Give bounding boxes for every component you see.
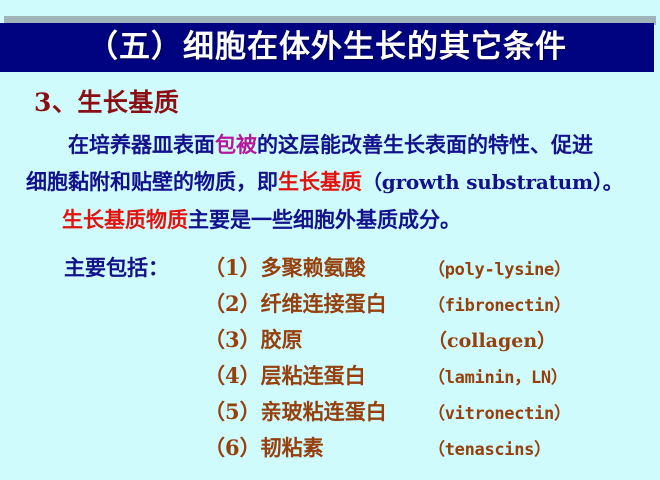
list-item-5-english: （vitronectin） [428,399,571,424]
paragraph-1-highlight-baobei: 包被 [215,132,257,157]
paragraph-3-segment-b: 主要是一些细胞外基质成分。 [188,207,461,232]
list-item-1-label: （1）多聚赖氨酸 [204,252,428,282]
list-item-2-label: （2）纤维连接蛋白 [204,288,428,318]
list-item-2-name: 纤维连接蛋白 [261,291,387,316]
list-item: （3）胶原 （collagen） [64,324,660,360]
paragraph-1-segment-a: 在培养器皿表面 [68,132,215,157]
list-item-4-number: （4） [204,363,261,388]
list-item: 主要包括： （1）多聚赖氨酸 （poly-lysine） [64,252,660,288]
list-item-3-label: （3）胶原 [204,324,428,354]
list-item-6-label: （6）韧粘素 [204,432,428,462]
list-item-6-english: （tenascins） [428,435,551,460]
paragraph-3-highlight-substrate: 生长基质物质 [62,207,188,232]
list-item-3-name: 胶原 [261,327,303,352]
body-text-block: 在培养器皿表面包被的这层能改善生长表面的特性、促进 细胞黏附和贴壁的物质，即生长… [26,126,656,238]
list-item-3-english: （collagen） [428,326,556,353]
paragraph-2-segment-a: 细胞黏附和贴壁的物质，即 [26,169,278,194]
list-item-5-number: （5） [204,399,261,424]
list-item-2-english: （fibronectin） [428,291,571,316]
paragraph-1-segment-b: 的这层能改善生长表面的特性、促进 [257,132,593,157]
paragraph-line-1: 在培养器皿表面包被的这层能改善生长表面的特性、促进 [26,126,656,163]
list-item-1-english: （poly-lysine） [428,255,571,280]
list-item-2-number: （2） [204,291,261,316]
list-item-1-name: 多聚赖氨酸 [261,255,366,280]
slide-title: （五）细胞在体外生长的其它条件 [87,32,567,63]
list-item: （4）层粘连蛋白 （laminin，LN） [64,360,660,396]
slide-canvas: （五）细胞在体外生长的其它条件 3、生长基质 在培养器皿表面包被的这层能改善生长… [0,0,660,480]
list-item: （6）韧粘素 （tenascins） [64,432,660,468]
list-item-6-name: 韧粘素 [261,435,324,460]
list-item-4-english: （laminin，LN） [428,363,568,388]
list-item-5-name: 亲玻粘连蛋白 [261,399,387,424]
list-item-4-name: 层粘连蛋白 [261,363,366,388]
section-heading: 3、生长基质 [34,83,179,119]
list-item-5-label: （5）亲玻粘连蛋白 [204,396,428,426]
list-item-3-number: （3） [204,327,261,352]
paragraph-2-latin-term: （growth substratum）。 [362,170,623,194]
list-lead-label: 主要包括： [64,252,204,282]
substrate-list: 主要包括： （1）多聚赖氨酸 （poly-lysine） （2）纤维连接蛋白 （… [64,252,660,468]
paragraph-2-highlight-shengzhangjizhi: 生长基质 [278,169,362,194]
list-item: （5）亲玻粘连蛋白 （vitronectin） [64,396,660,432]
list-item: （2）纤维连接蛋白 （fibronectin） [64,288,660,324]
list-item-4-label: （4）层粘连蛋白 [204,360,428,390]
list-item-6-number: （6） [204,435,261,460]
list-item-1-number: （1） [204,255,261,280]
paragraph-line-3: 生长基质物质主要是一些细胞外基质成分。 [26,201,656,238]
title-bar: （五）细胞在体外生长的其它条件 [0,23,654,72]
paragraph-line-2: 细胞黏附和贴壁的物质，即生长基质（growth substratum）。 [26,163,656,201]
